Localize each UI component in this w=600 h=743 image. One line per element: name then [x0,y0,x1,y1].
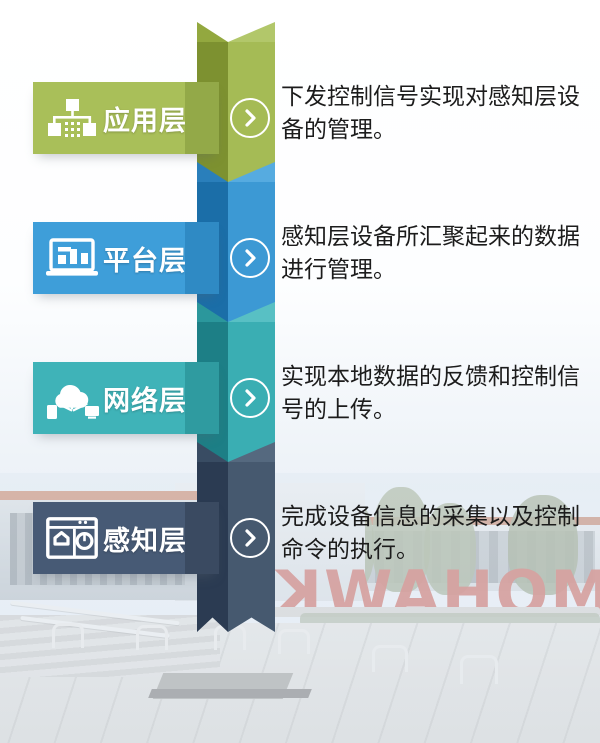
band-fold-shadow [185,82,219,154]
smart-appliance-icon [41,515,103,561]
layer-band-network[interactable]: 网络层 [33,362,219,434]
ribbon-cap-right [228,442,275,462]
org-chart-icon [47,98,97,138]
smart-appliance-icon [46,517,98,559]
photo-bike-rack [460,655,498,684]
photo-bike-rack [136,625,168,650]
cloud-devices-icon [41,375,103,421]
layer-label-network: 网络层 [103,379,187,418]
ribbon-cap-right [228,22,275,42]
ribbon-cap-right [228,302,275,322]
chevron-right-glyph [243,248,258,268]
ribbon-cap-left [197,162,228,182]
layer-label-platform: 平台层 [103,239,187,278]
photo-bike-rack [52,623,84,648]
layer-description-sensing: 完成设备信息的采集以及控制命令的执行。 [281,500,581,565]
photo-stairs [0,615,220,677]
chevron-right-icon-sensing[interactable] [230,518,270,558]
layer-description-platform: 感知层设备所汇聚起来的数据进行管理。 [281,220,581,285]
layer-label-sensing: 感知层 [103,519,187,558]
ribbon-cap-left [197,302,228,322]
layer-band-platform[interactable]: 平台层 [33,222,219,294]
photo-building-left-roof [0,491,205,500]
laptop-chart-icon [46,238,98,278]
ribbon-cap-right [228,162,275,182]
band-fold-shadow [185,362,219,434]
ribbon-cap-left [197,442,228,462]
band-fold-shadow [185,502,219,574]
layer-label-application: 应用层 [103,99,187,138]
band-fold-shadow [185,222,219,294]
layer-band-application[interactable]: 应用层 [33,82,219,154]
ribbon-cap-left [197,22,228,42]
layer-band-sensing[interactable]: 感知层 [33,502,219,574]
chevron-right-glyph [243,388,258,408]
cloud-devices-icon [45,377,99,419]
chevron-right-icon-network[interactable] [230,378,270,418]
chevron-right-glyph [243,108,258,128]
photo-bench-shadow [148,689,312,698]
chevron-right-icon-platform[interactable] [230,238,270,278]
infographic-canvas: MOHAWK [0,0,600,743]
ribbon-tail [197,594,275,632]
photo-bike-rack [278,629,310,654]
layer-description-network: 实现本地数据的反馈和控制信号的上传。 [281,360,581,425]
chevron-right-glyph [243,528,258,548]
laptop-chart-icon [41,235,103,281]
chevron-right-icon-application[interactable] [230,98,270,138]
photo-bike-rack [372,645,408,672]
layer-description-application: 下发控制信号实现对感知层设备的管理。 [281,80,581,145]
org-chart-icon [41,95,103,141]
